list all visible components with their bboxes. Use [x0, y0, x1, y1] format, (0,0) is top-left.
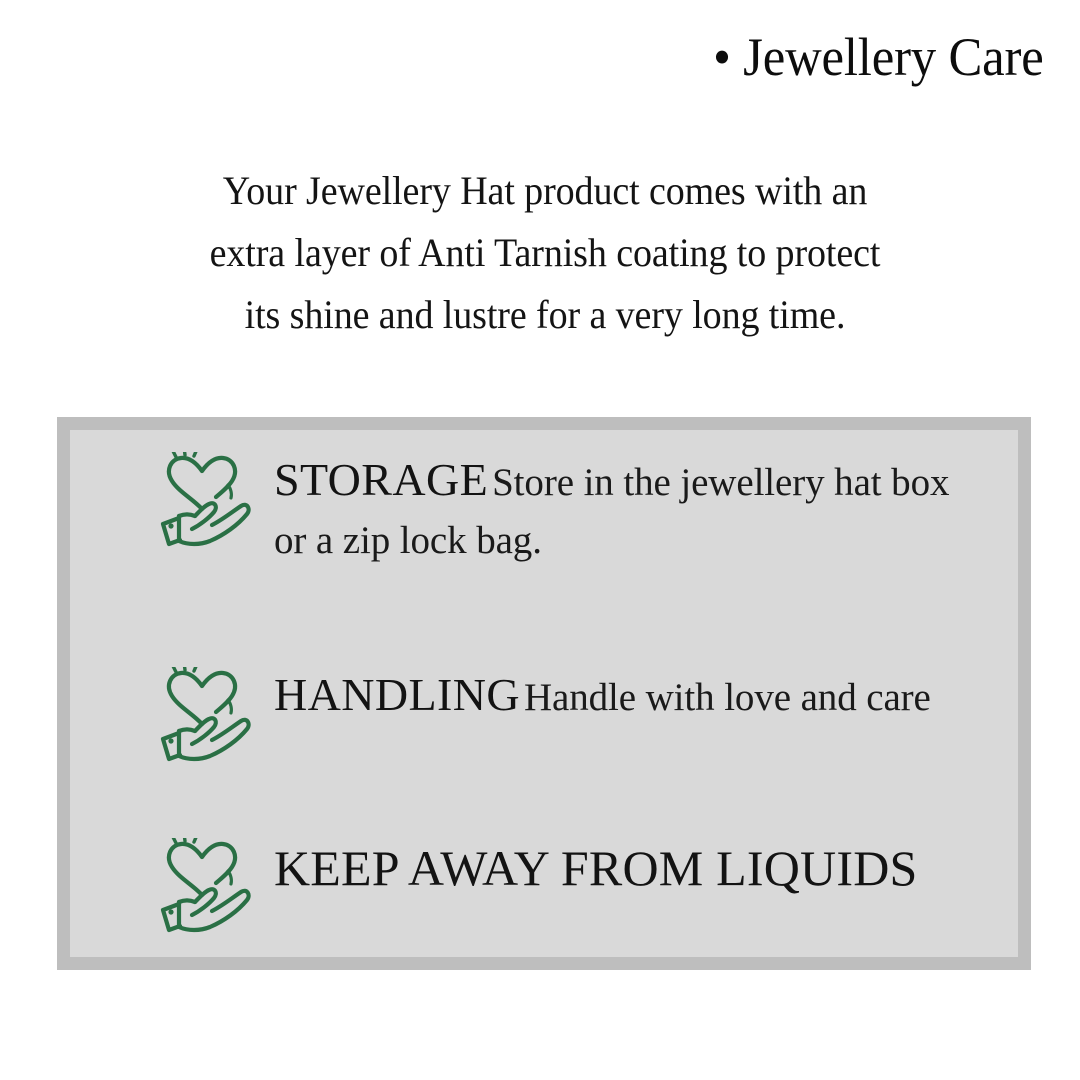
care-item-storage: STORAGE Store in the jewellery hat box o… — [152, 452, 1018, 570]
page-title-text: • Jewellery Care — [714, 28, 1044, 87]
care-item-liquids: KEEP AWAY FROM LIQUIDS — [152, 838, 918, 936]
care-instructions-panel: STORAGE Store in the jewellery hat box o… — [57, 417, 1031, 970]
care-instructions-panel-inner: STORAGE Store in the jewellery hat box o… — [70, 430, 1018, 957]
care-item-storage-text: STORAGE Store in the jewellery hat box o… — [274, 452, 1018, 570]
jewellery-care-card: • Jewellery Care Your Jewellery Hat prod… — [0, 0, 1080, 1080]
hand-holding-heart-icon — [152, 452, 256, 550]
care-item-handling: HANDLING Handle with love and care — [152, 667, 931, 765]
hand-holding-heart-icon — [152, 667, 256, 765]
care-item-storage-desc-2: or a zip lock bag. — [274, 519, 542, 562]
hand-holding-heart-icon — [152, 838, 256, 936]
care-item-handling-text: HANDLING Handle with love and care — [274, 667, 931, 727]
intro-line-2: extra layer of Anti Tarnish coating to p… — [94, 222, 997, 284]
intro-line-3: its shine and lustre for a very long tim… — [94, 284, 997, 346]
care-item-liquids-heading: KEEP AWAY FROM LIQUIDS — [274, 840, 918, 896]
intro-line-1: Your Jewellery Hat product comes with an — [94, 160, 997, 222]
care-item-handling-heading: HANDLING — [274, 669, 520, 720]
page-title: • Jewellery Care — [0, 28, 1044, 87]
care-item-storage-desc-1: Store in the jewellery hat box — [492, 461, 949, 504]
care-item-liquids-text: KEEP AWAY FROM LIQUIDS — [274, 838, 918, 896]
care-item-storage-heading: STORAGE — [274, 454, 488, 505]
intro-paragraph: Your Jewellery Hat product comes with an… — [70, 160, 1020, 346]
care-item-handling-desc-1: Handle with love and care — [524, 676, 931, 719]
